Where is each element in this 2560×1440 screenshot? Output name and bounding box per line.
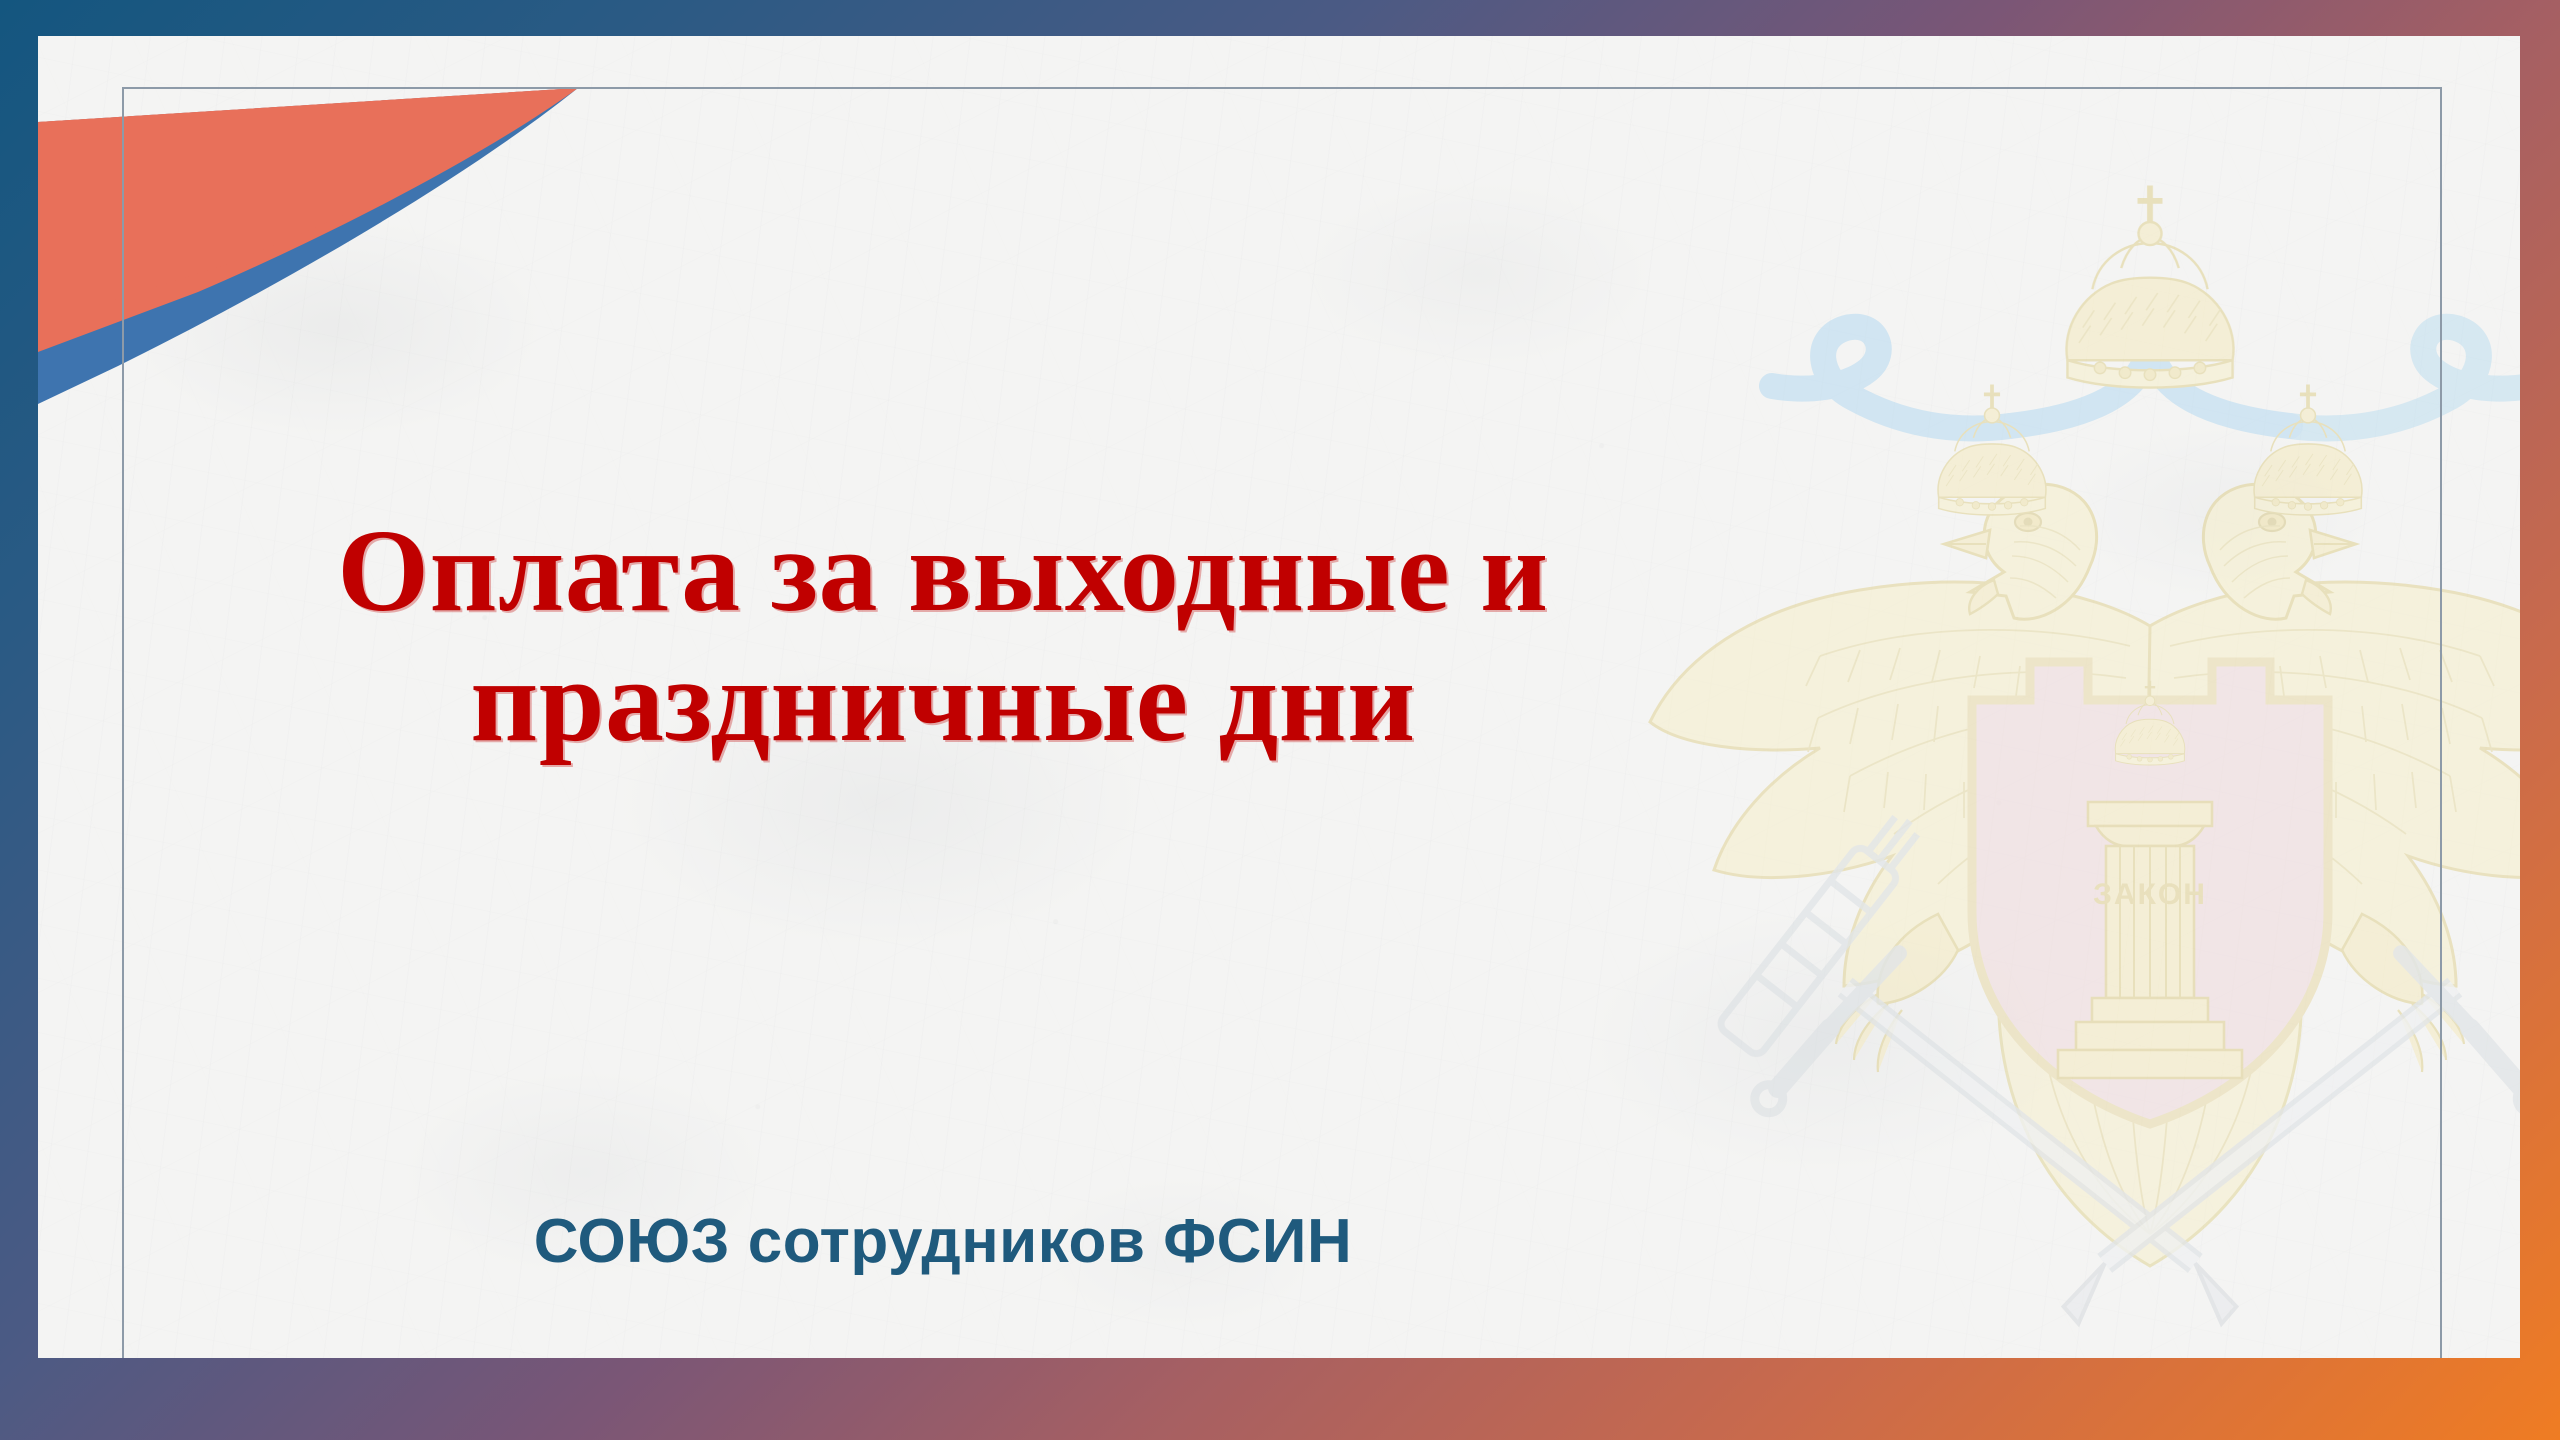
corner-ribbon-decoration-icon <box>38 36 798 596</box>
emblem-motto-text: ЗАКОН <box>2093 878 2207 911</box>
paper-texture-blotches <box>38 36 2520 1358</box>
slide-canvas: ЗАКОН <box>38 36 2520 1358</box>
title-line-1: Оплата за выходные и <box>38 506 1848 636</box>
paper-texture-cracks <box>38 36 2520 1358</box>
slide-subtitle: СОЮЗ сотрудников ФСИН <box>38 1206 1848 1277</box>
presentation-slide: ЗАКОН <box>0 0 2560 1440</box>
subtitle-text: СОЮЗ сотрудников ФСИН <box>534 1207 1353 1276</box>
title-line-2: праздничные дни <box>38 636 1848 766</box>
slide-title: Оплата за выходные и праздничные дни <box>38 506 1848 766</box>
inner-keyline-border <box>122 87 2442 1358</box>
fsin-emblem-icon: ЗАКОН <box>1550 66 2520 1358</box>
paper-texture-specks <box>38 36 2520 1358</box>
